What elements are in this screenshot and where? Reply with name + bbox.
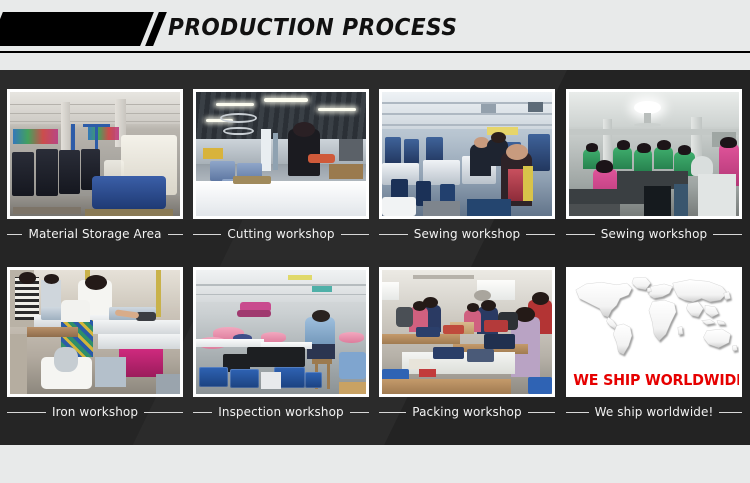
photo-cutting-workshop[interactable] [193,89,369,219]
header-divider-rule [0,51,750,53]
header-black-bar [0,12,153,46]
caption-dash-left [7,234,22,235]
caption-dash-right [144,412,183,413]
photo-art-world-map: WE SHIP WORLDWIDE! [569,270,739,394]
photo-iron-workshop[interactable] [7,267,183,397]
caption-label: Packing workshop [412,405,521,419]
caption-dash-right [168,234,183,235]
caption-iron-workshop: Iron workshop [7,401,183,423]
photo-packing-workshop[interactable] [379,267,555,397]
caption-dash-right [341,234,369,235]
caption-inspection-workshop: Inspection workshop [193,401,369,423]
caption-dash-right [719,412,742,413]
process-gallery-panel: Material Storage Area [0,70,750,445]
process-grid: Material Storage Area [0,70,750,445]
caption-material-storage-area: Material Storage Area [7,223,183,245]
photo-sewing-workshop-2[interactable] [566,89,742,219]
photo-art-sewing-uniforms [569,92,739,216]
photo-art-warehouse [10,92,180,216]
caption-cutting-workshop: Cutting workshop [193,223,369,245]
caption-dash-right [526,234,555,235]
caption-sewing-workshop-1: Sewing workshop [379,223,555,245]
caption-label: Cutting workshop [227,227,334,241]
photo-art-cutting [196,92,366,216]
caption-dash-left [566,412,589,413]
photo-we-ship-worldwide[interactable]: WE SHIP WORLDWIDE! [566,267,742,397]
photo-sewing-workshop-1[interactable] [379,89,555,219]
caption-label: We ship worldwide! [595,405,714,419]
caption-dash-right [713,234,742,235]
caption-dash-right [350,412,369,413]
caption-sewing-workshop-2: Sewing workshop [566,223,742,245]
page-header: PRODUCTION PROCESS [0,0,750,53]
caption-label: Sewing workshop [414,227,521,241]
photo-inspection-workshop[interactable] [193,267,369,397]
caption-label: Material Storage Area [28,227,161,241]
photo-art-packing [382,270,552,394]
caption-label: Sewing workshop [601,227,708,241]
caption-label: Inspection workshop [218,405,344,419]
we-ship-worldwide-text: WE SHIP WORLDWIDE! [573,371,735,389]
caption-dash-left [379,412,406,413]
caption-dash-left [7,412,46,413]
caption-packing-workshop: Packing workshop [379,401,555,423]
photo-art-inspection [196,270,366,394]
caption-dash-right [528,412,555,413]
caption-dash-left [193,234,221,235]
page-footer-strip [0,445,750,483]
page-title: PRODUCTION PROCESS [168,13,457,44]
caption-dash-left [379,234,408,235]
caption-dash-left [193,412,212,413]
photo-material-storage-area[interactable] [7,89,183,219]
world-map-icon [569,272,739,359]
photo-art-sewing-denim [382,92,552,216]
caption-we-ship-worldwide: We ship worldwide! [566,401,742,423]
world-map-graphic [569,272,739,359]
caption-label: Iron workshop [52,405,138,419]
photo-art-ironing [10,270,180,394]
caption-dash-left [566,234,595,235]
